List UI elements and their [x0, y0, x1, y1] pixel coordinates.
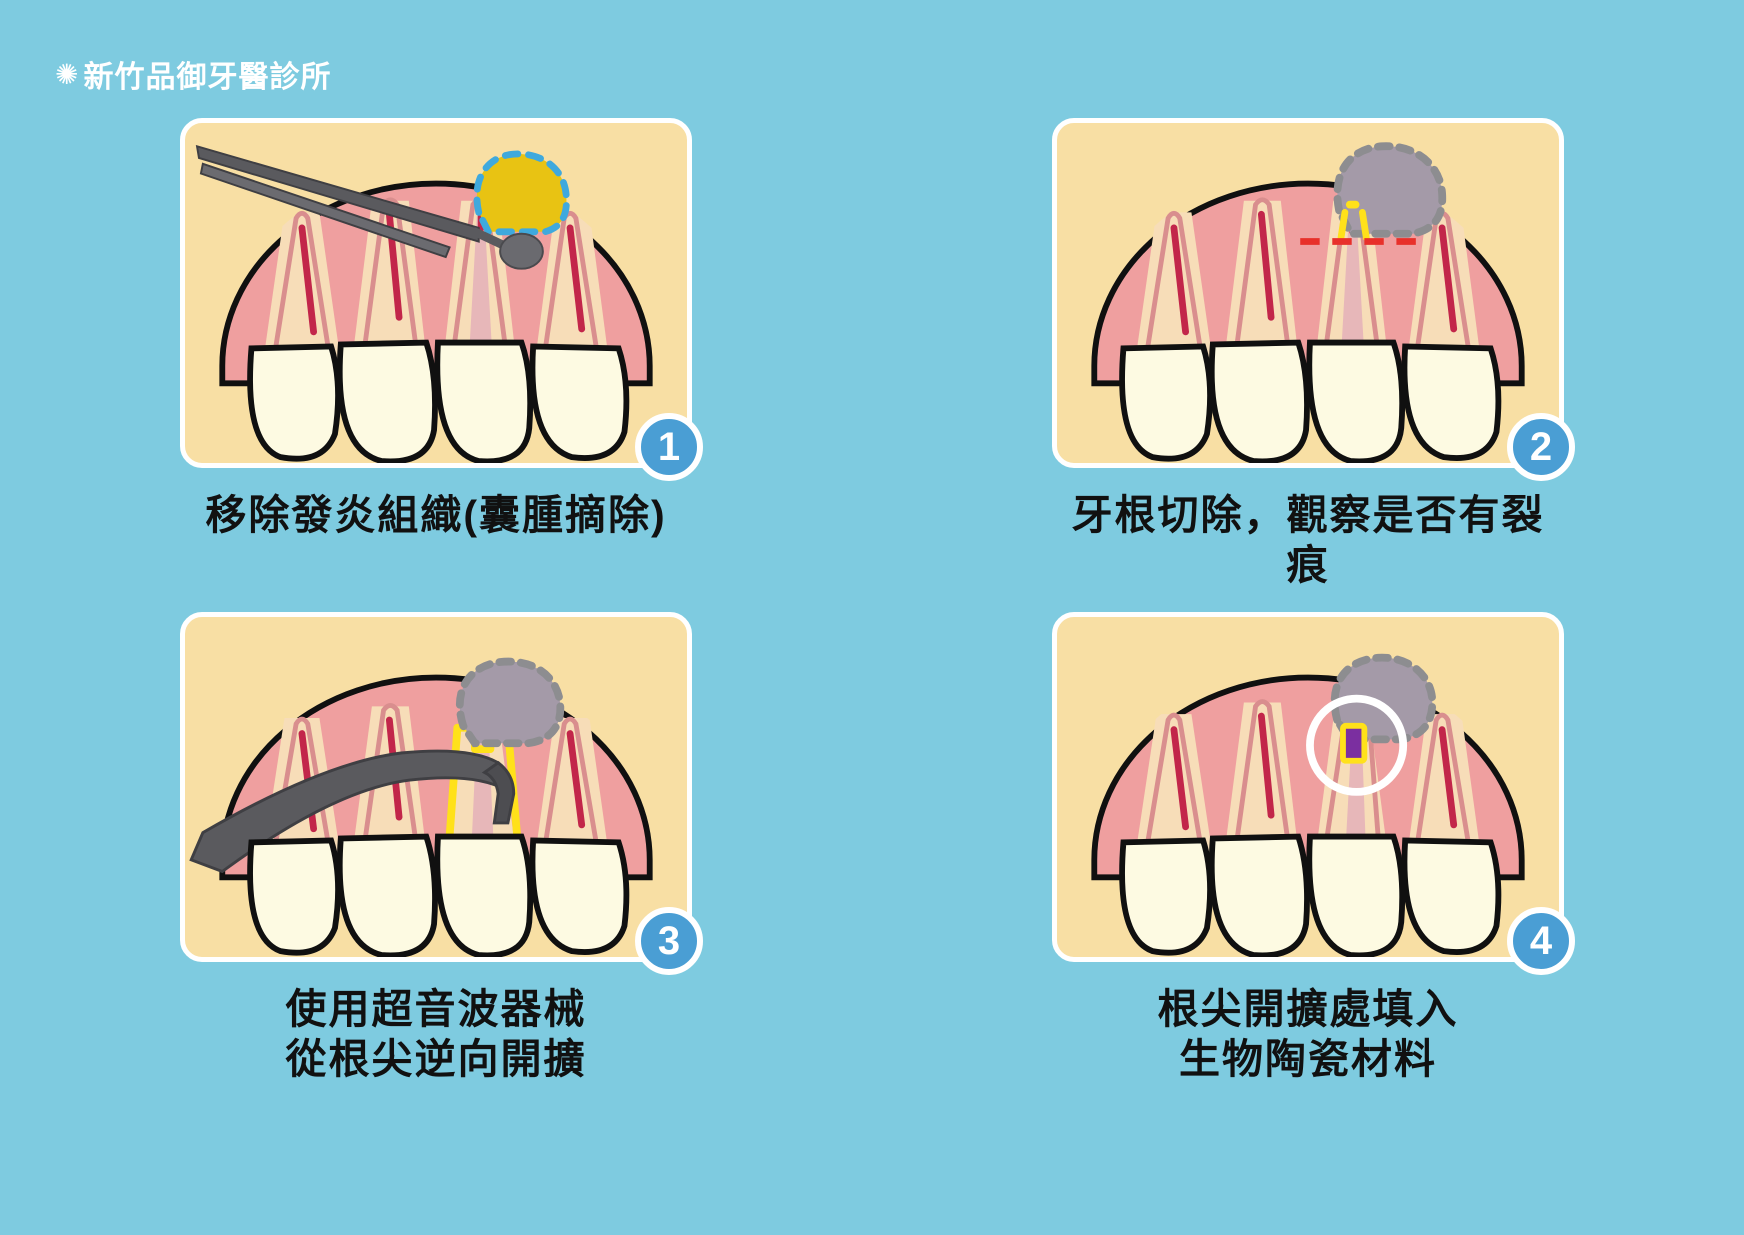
step-4-illustration	[1057, 617, 1559, 957]
brand-logo: ✺ 新竹品御牙醫診所	[55, 52, 331, 96]
clinic-name: 新竹品御牙醫診所	[83, 52, 331, 96]
step-4-caption: 根尖開擴處填入 生物陶瓷材料	[1052, 984, 1564, 1084]
step-2-number-badge: 2	[1507, 413, 1575, 481]
step-2-caption-line-1: 牙根切除，觀察是否有裂痕	[1052, 490, 1564, 590]
step-4-number-badge: 4	[1507, 907, 1575, 975]
step-3-panel: 3	[180, 612, 692, 962]
step-3-caption-line-1: 使用超音波器械	[180, 984, 692, 1034]
step-1: 1 移除發炎組織(囊腫摘除)	[0, 118, 872, 590]
step-1-caption-line-1: 移除發炎組織(囊腫摘除)	[180, 490, 692, 540]
step-2: 2 牙根切除，觀察是否有裂痕	[872, 118, 1744, 590]
step-3-illustration	[185, 617, 687, 957]
step-1-illustration	[185, 123, 687, 463]
step-4-panel: 4	[1052, 612, 1564, 962]
steps-grid: 1 移除發炎組織(囊腫摘除)	[0, 118, 1744, 1084]
step-3: 3 使用超音波器械 從根尖逆向開擴	[0, 612, 872, 1084]
step-2-illustration	[1057, 123, 1559, 463]
step-4-caption-line-1: 根尖開擴處填入	[1052, 984, 1564, 1034]
step-1-number-badge: 1	[635, 413, 703, 481]
step-3-caption-line-2: 從根尖逆向開擴	[180, 1034, 692, 1084]
step-3-caption: 使用超音波器械 從根尖逆向開擴	[180, 984, 692, 1084]
step-3-number-badge: 3	[635, 907, 703, 975]
step-4: 4 根尖開擴處填入 生物陶瓷材料	[872, 612, 1744, 1084]
step-2-caption: 牙根切除，觀察是否有裂痕	[1052, 490, 1564, 590]
clinic-logo-icon: ✺	[55, 61, 79, 89]
step-2-panel: 2	[1052, 118, 1564, 468]
step-4-caption-line-2: 生物陶瓷材料	[1052, 1034, 1564, 1084]
purple-bioceramic-filling	[1343, 726, 1364, 761]
step-1-caption: 移除發炎組織(囊腫摘除)	[180, 490, 692, 540]
step-1-panel: 1	[180, 118, 692, 468]
